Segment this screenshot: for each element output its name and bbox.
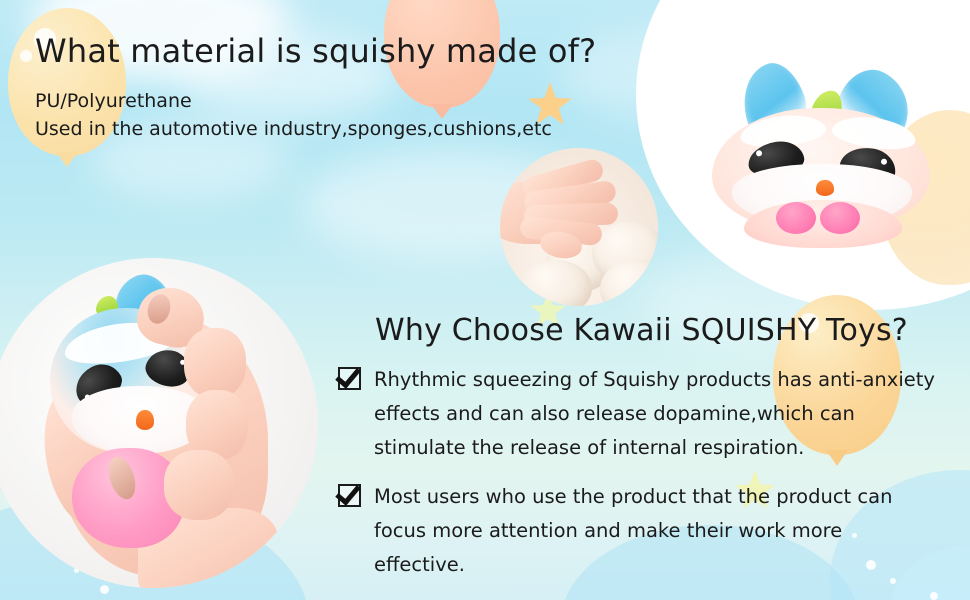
material-line-2: Used in the automotive industry,sponges,… xyxy=(35,118,552,140)
bubble-dot-6 xyxy=(930,592,938,600)
balloon-highlight-small xyxy=(20,50,32,62)
balloon-knot xyxy=(56,152,78,167)
balloon-knot xyxy=(431,104,453,119)
bullet-item-1: Rhythmic squeezing of Squishy products h… xyxy=(338,363,938,465)
bubble-dot-3 xyxy=(100,585,109,594)
hand-pressing-foam-photo xyxy=(500,148,658,306)
material-heading: What material is squishy made of? xyxy=(35,32,596,70)
material-line-1: PU/Polyurethane xyxy=(35,90,192,112)
toy-eye-shine xyxy=(756,150,763,157)
kawaii-squishy-toy-photo xyxy=(700,60,950,260)
toy-eye-shine xyxy=(881,158,888,165)
squeeze-toy-nose xyxy=(136,410,154,430)
toy-paw-right xyxy=(820,202,860,234)
why-choose-heading: Why Choose Kawaii SQUISHY Toys? xyxy=(375,313,908,348)
bullet-text-2: Most users who use the product that the … xyxy=(374,480,938,582)
squeeze-finger-4 xyxy=(164,450,234,520)
hand-squeezing-toy-photo xyxy=(0,258,318,588)
squeeze-finger-2 xyxy=(184,328,246,398)
bullet-item-2: Most users who use the product that the … xyxy=(338,480,938,582)
toy-paw-left xyxy=(776,202,816,234)
checkbox-checked-icon[interactable] xyxy=(338,367,361,390)
toy-nose xyxy=(816,180,834,196)
infographic-canvas: What material is squishy made of? PU/Pol… xyxy=(0,0,970,600)
checkbox-checked-icon[interactable] xyxy=(338,484,361,507)
bullet-text-1: Rhythmic squeezing of Squishy products h… xyxy=(374,363,938,465)
